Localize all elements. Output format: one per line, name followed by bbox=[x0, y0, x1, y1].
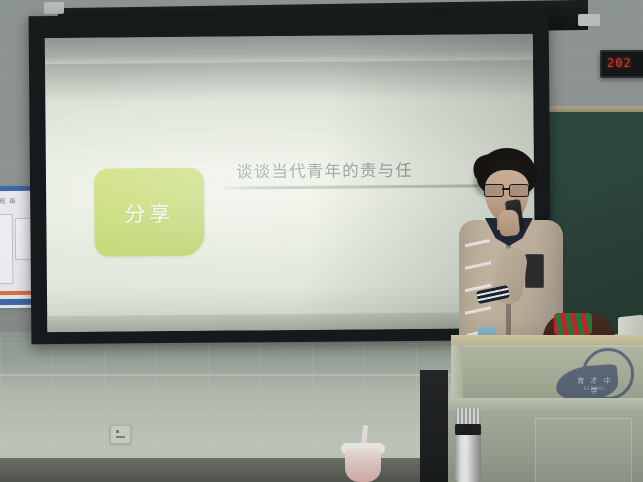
glasses-bridge bbox=[502, 188, 509, 190]
bulletin-board-cell bbox=[0, 214, 13, 284]
bulletin-board-bottom-border bbox=[0, 299, 35, 305]
presenter-hand bbox=[498, 209, 521, 237]
slide-badge-box: 分享 bbox=[94, 168, 205, 257]
bulletin-board-accent bbox=[0, 291, 35, 295]
wall-outlet-icon bbox=[110, 425, 131, 444]
led-sign-text: 202 bbox=[607, 56, 632, 70]
classroom-scene: 202 班 级 分享 谈谈当代青年的责与任 bbox=[0, 0, 643, 482]
presenter-leg bbox=[420, 370, 448, 482]
jacket-sleeve-stripes bbox=[465, 234, 491, 340]
slide-badge-label: 分享 bbox=[94, 198, 204, 229]
podium-cabinet-door bbox=[535, 418, 632, 482]
glasses-lens-right bbox=[509, 184, 529, 197]
thermos-cap bbox=[455, 408, 481, 424]
led-clock-sign: 202 bbox=[600, 50, 643, 78]
jacket-chest-patch bbox=[525, 254, 544, 288]
wall-baseboard bbox=[0, 458, 450, 482]
housing-bracket-right bbox=[578, 14, 600, 26]
bulletin-board-top-border bbox=[0, 186, 33, 191]
thermos-grip-band bbox=[455, 424, 481, 435]
glasses-icon bbox=[484, 184, 530, 195]
bulletin-board-text: 班 级 bbox=[0, 196, 34, 205]
housing-bracket-left bbox=[44, 2, 64, 14]
drink-cup-icon bbox=[345, 448, 381, 482]
podium-side-panel bbox=[451, 345, 463, 405]
glasses-lens-left bbox=[484, 184, 504, 197]
bag-stripe-pattern bbox=[554, 313, 592, 335]
emblem-english-text: SCHOOL bbox=[572, 386, 618, 391]
